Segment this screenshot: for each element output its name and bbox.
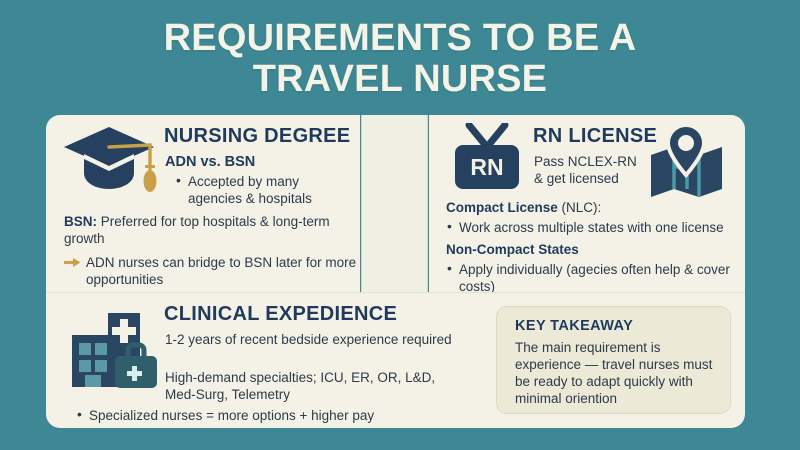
bullet-text: Specialized nurses = more options + high… [76,407,476,424]
compact-label-suffix: (NLC): [558,200,602,215]
rn-license-heading: RN LICENSE [533,125,657,148]
arrow-right-icon [64,257,81,268]
key-takeaway-box: KEY TAKEAWAY The main requirement is exp… [496,306,731,414]
bottom-row: CLINICAL EXPEDIENCE 1-2 years of recent … [46,292,745,428]
panel-divider-column [361,115,428,292]
rn-badge-icon: RN [451,123,523,195]
clinical-experience-bullet: Specialized nurses = more options + high… [76,407,476,424]
page-title-line1: REQUIREMENTS TO BE A [164,17,637,59]
rn-badge-text: RN [470,154,503,180]
compact-label-strong: Compact License [446,200,558,215]
key-takeaway-body: The main requirement is experience — tra… [515,339,720,408]
page-title: REQUIREMENTS TO BE A TRAVEL NURSE [0,18,800,100]
rn-license-subheading: Pass NCLEX-RN & get licensed [534,153,644,187]
top-row: NURSING DEGREE ADN vs. BSN Accepted by m… [46,115,745,292]
page-title-line2: TRAVEL NURSE [0,59,800,100]
noncompact-label: Non-Compact States [446,241,746,258]
nursing-degree-heading: NURSING DEGREE [164,125,350,148]
card-nursing-degree: NURSING DEGREE ADN vs. BSN Accepted by m… [46,115,360,292]
hospital-icon [68,305,160,393]
nursing-degree-bsn-note: BSN: Preferred for top hospitals & long-… [64,213,364,247]
compact-license-bullet: Work across multiple states with one lic… [446,219,751,236]
card-rn-license: RN RN LICENSE Pass NCLEX-RN & get licens… [429,115,745,292]
clinical-experience-line-1: 1-2 years of recent bedside experience r… [165,331,455,348]
bsn-label: BSN: [64,214,97,229]
bullet-text: Apply individually (agecies often help &… [446,261,741,295]
nursing-degree-bridge-note: ADN nurses can bridge to BSN later for m… [64,254,364,288]
clinical-experience-heading: CLINICAL EXPEDIENCE [164,303,397,326]
nursing-degree-subheading: ADN vs. BSN [165,153,255,171]
bsn-text: Preferred for top hospitals & long-term … [64,214,330,246]
bullet-text: Accepted by many agencies & hospitals [175,173,350,207]
bridge-text: ADN nurses can bridge to BSN later for m… [86,255,356,287]
noncompact-bullet: Apply individually (agecies often help &… [446,261,741,295]
bullet-text: Work across multiple states with one lic… [446,219,751,236]
graduation-cap-icon [62,121,160,201]
infographic-board: NURSING DEGREE ADN vs. BSN Accepted by m… [46,115,745,428]
clinical-experience-line-2: High-demand specialties; ICU, ER, OR, L&… [165,369,455,403]
map-pin-icon [647,123,727,203]
key-takeaway-heading: KEY TAKEAWAY [515,318,633,334]
nursing-degree-bullet-1: Accepted by many agencies & hospitals [175,173,350,207]
compact-license-label: Compact License (NLC): [446,199,746,216]
